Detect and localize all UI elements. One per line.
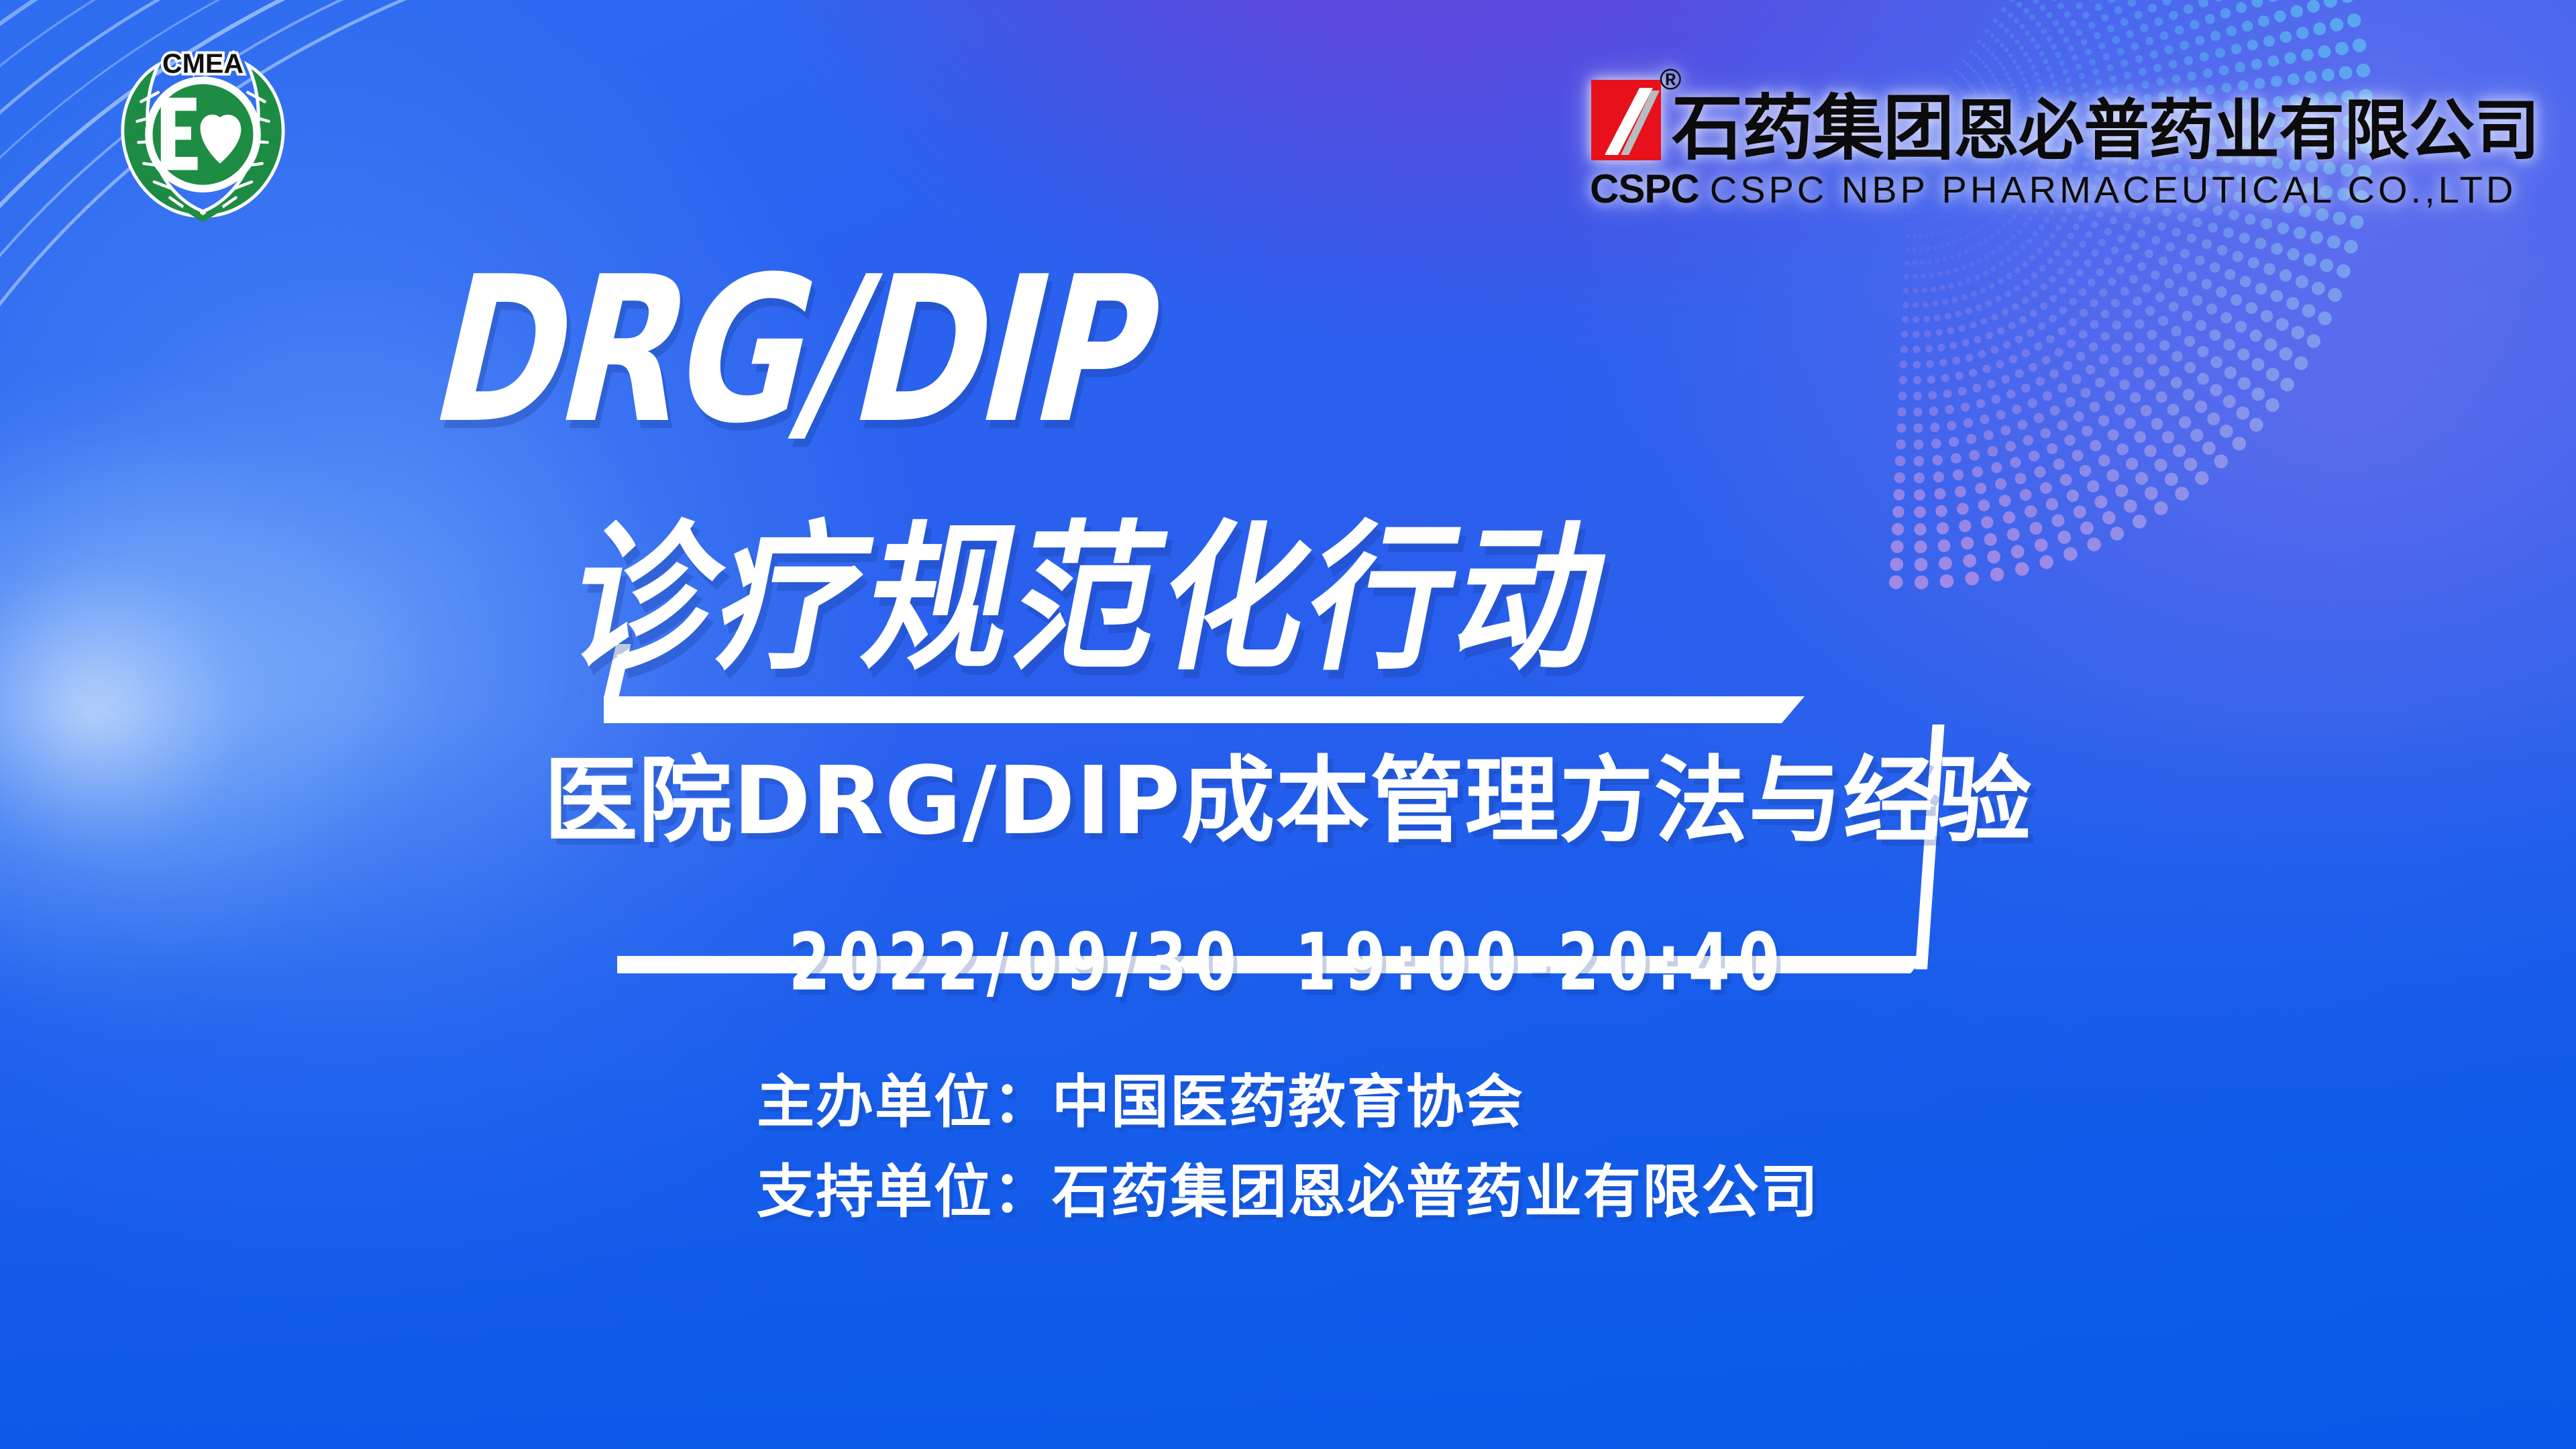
page-subtitle: 医院DRG/DIP成本管理方法与经验	[544, 755, 2033, 849]
event-time: 19:00-20:40	[1295, 916, 1787, 1008]
organizer-host: 主办单位：中国医药教育协会	[757, 1073, 1524, 1131]
event-datetime: 2022/09/3019:00-20:40	[789, 922, 1788, 1002]
organizer-block: 主办单位：中国医药教育协会 支持单位：石药集团恩必普药业有限公司	[757, 1073, 1819, 1221]
event-date: 2022/09/30	[789, 916, 1244, 1008]
organizer-supporter: 支持单位：石药集团恩必普药业有限公司	[757, 1163, 1819, 1221]
page-title-main: DRG/DIP	[420, 258, 1173, 443]
poster-canvas: CMEA ® 石药集团恩必普药业有限公司 CSPC CSPC NBP PHARM…	[0, 0, 2576, 1449]
page-title-chinese: 诊疗规范化行动	[559, 520, 1621, 680]
title-underline-1	[604, 696, 1805, 723]
